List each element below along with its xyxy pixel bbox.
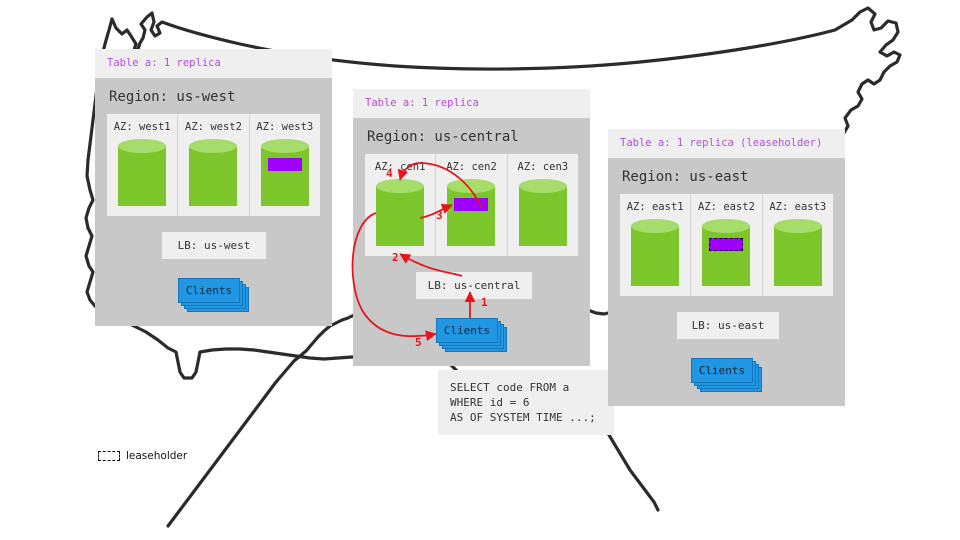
replica-cylinder-cen1[interactable] [376,179,424,253]
az-cell-west3[interactable]: AZ: west3 [250,114,320,216]
clients-label-us-east: Clients [691,358,753,383]
az-cell-cen1[interactable]: AZ: cen1 [365,154,436,256]
az-label-cen1: AZ: cen1 [365,161,435,173]
cylinder-top [189,139,237,153]
az-row-us-west: AZ: west1 AZ: west2 AZ: west3 [107,114,320,216]
clients-stack-us-central[interactable]: Clients [436,318,498,343]
replica-cylinder-west3[interactable] [261,139,309,213]
legend-label: leaseholder [126,450,187,462]
cylinder-bottom [189,192,237,206]
region-panel-us-central: Table a: 1 replica Region: us-central AZ… [353,89,590,366]
region-header-us-central: Table a: 1 replica [353,89,590,118]
cylinder-top [447,179,495,193]
replica-cylinder-west1[interactable] [118,139,166,213]
arrow-label-3: 3 [436,209,443,222]
cylinder-bottom [261,192,309,206]
region-title-us-central: Region: us-central [353,118,590,154]
clients-stack-us-west[interactable]: Clients [178,278,240,303]
az-label-east3: AZ: east3 [763,201,833,213]
az-row-us-central: AZ: cen1 AZ: cen2 AZ: cen3 [365,154,578,256]
clients-stack-us-east[interactable]: Clients [691,358,753,383]
clients-label-us-central: Clients [436,318,498,343]
cylinder-top [118,139,166,153]
arrow-label-5: 5 [415,336,422,349]
region-panel-us-east: Table a: 1 replica (leaseholder) Region:… [608,129,845,406]
cylinder-bottom [447,232,495,246]
az-cell-east3[interactable]: AZ: east3 [763,194,833,296]
cylinder-top [631,219,679,233]
az-label-west2: AZ: west2 [178,121,248,133]
az-label-west3: AZ: west3 [250,121,320,133]
sql-query-note: SELECT code FROM a WHERE id = 6 AS OF SY… [438,370,614,435]
cylinder-bottom [702,272,750,286]
cylinder-bottom [118,192,166,206]
cylinder-top [376,179,424,193]
az-cell-cen2[interactable]: AZ: cen2 [436,154,507,256]
load-balancer-us-east[interactable]: LB: us-east [676,311,780,340]
az-cell-east2[interactable]: AZ: east2 [691,194,762,296]
arrow-label-1: 1 [481,296,488,309]
az-cell-west1[interactable]: AZ: west1 [107,114,178,216]
cylinder-bottom [774,272,822,286]
arrow-label-4: 4 [386,167,393,180]
replica-cylinder-east2[interactable] [702,219,750,293]
replica-cylinder-west2[interactable] [189,139,237,213]
az-cell-east1[interactable]: AZ: east1 [620,194,691,296]
replica-cylinder-east1[interactable] [631,219,679,293]
cylinder-top [774,219,822,233]
arrow-label-2: 2 [392,251,399,264]
cylinder-top [702,219,750,233]
az-label-cen2: AZ: cen2 [436,161,506,173]
legend: leaseholder [98,450,187,462]
load-balancer-us-west[interactable]: LB: us-west [161,231,267,260]
az-label-west1: AZ: west1 [107,121,177,133]
cylinder-top [261,139,309,153]
dashed-rect-icon [98,451,120,461]
az-cell-cen3[interactable]: AZ: cen3 [508,154,578,256]
az-label-east2: AZ: east2 [691,201,761,213]
clients-label-us-west: Clients [178,278,240,303]
leaseholder-marker-east2 [709,238,743,251]
cylinder-top [519,179,567,193]
region-header-us-east: Table a: 1 replica (leaseholder) [608,129,845,158]
replica-cylinder-east3[interactable] [774,219,822,293]
replica-cylinder-cen2[interactable] [447,179,495,253]
replica-range-marker-cen2 [454,198,488,211]
region-title-us-east: Region: us-east [608,158,845,194]
diagram-canvas: Table a: 1 replica Region: us-west AZ: w… [0,0,960,540]
az-row-us-east: AZ: east1 AZ: east2 AZ: east3 [620,194,833,296]
cylinder-bottom [519,232,567,246]
replica-cylinder-cen3[interactable] [519,179,567,253]
load-balancer-us-central[interactable]: LB: us-central [415,271,533,300]
region-header-us-west: Table a: 1 replica [95,49,332,78]
region-panel-us-west: Table a: 1 replica Region: us-west AZ: w… [95,49,332,326]
replica-range-marker-west3 [268,158,302,171]
az-label-cen3: AZ: cen3 [508,161,578,173]
cylinder-bottom [631,272,679,286]
region-title-us-west: Region: us-west [95,78,332,114]
cylinder-bottom [376,232,424,246]
az-label-east1: AZ: east1 [620,201,690,213]
az-cell-west2[interactable]: AZ: west2 [178,114,249,216]
